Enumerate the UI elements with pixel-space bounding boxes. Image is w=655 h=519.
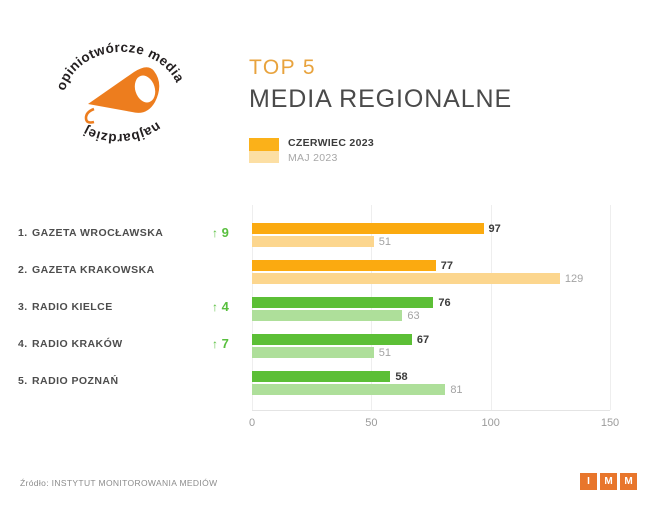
bar-previous: 51 xyxy=(252,347,374,358)
row-label: 5.RADIO POZNAŃ xyxy=(18,375,194,387)
bar-previous: 81 xyxy=(252,384,445,395)
bar-value-label: 77 xyxy=(441,260,453,272)
bar-group: 9751 xyxy=(252,223,484,247)
chart-row: 4.RADIO KRAKÓW↑ 76751 xyxy=(0,330,655,364)
bar-value-label: 97 xyxy=(489,223,501,235)
legend-swatch-current xyxy=(249,138,279,151)
bar-group: 6751 xyxy=(252,334,412,358)
page-title: TOP 5 MEDIA REGIONALNE xyxy=(249,55,512,115)
bar-value-label: 129 xyxy=(565,273,583,285)
row-name: RADIO KRAKÓW xyxy=(32,338,123,350)
imm-logo: IMM xyxy=(580,473,637,490)
rank-change-indicator: ↑ 7 xyxy=(212,336,229,351)
chart-legend: CZERWIEC 2023 MAJ 2023 xyxy=(249,137,374,165)
bar-previous: 129 xyxy=(252,273,560,284)
chart-row: 3.RADIO KIELCE↑ 47663 xyxy=(0,293,655,327)
x-axis-line xyxy=(252,410,610,411)
bar-value-label: 51 xyxy=(379,236,391,248)
bar-current: 58 xyxy=(252,371,390,382)
imm-logo-letter: M xyxy=(600,473,617,490)
row-rank: 1. xyxy=(18,227,32,239)
megaphone-icon xyxy=(86,67,160,122)
bar-previous: 51 xyxy=(252,236,374,247)
bar-group: 5881 xyxy=(252,371,445,395)
imm-logo-letter: M xyxy=(620,473,637,490)
row-name: RADIO POZNAŃ xyxy=(32,375,118,387)
row-name: GAZETA WROCŁAWSKA xyxy=(32,227,163,239)
row-rank: 3. xyxy=(18,301,32,313)
legend-label-current: CZERWIEC 2023 xyxy=(288,137,374,150)
bar-chart: 1.GAZETA WROCŁAWSKA↑ 997512.GAZETA KRAKO… xyxy=(0,205,655,440)
row-rank: 5. xyxy=(18,375,32,387)
bar-value-label: 63 xyxy=(407,310,419,322)
bar-current: 76 xyxy=(252,297,433,308)
bar-value-label: 76 xyxy=(438,297,450,309)
x-tick-label: 100 xyxy=(481,417,499,429)
imm-logo-letter: I xyxy=(580,473,597,490)
bar-current: 67 xyxy=(252,334,412,345)
chart-row: 1.GAZETA WROCŁAWSKA↑ 99751 xyxy=(0,219,655,253)
row-label: 3.RADIO KIELCE xyxy=(18,301,194,313)
legend-swatch-previous xyxy=(249,151,279,164)
row-name: GAZETA KRAKOWSKA xyxy=(32,264,155,276)
bar-value-label: 81 xyxy=(450,384,462,396)
row-label: 4.RADIO KRAKÓW xyxy=(18,338,194,350)
row-rank: 4. xyxy=(18,338,32,350)
row-rank: 2. xyxy=(18,264,32,276)
title-eyebrow: TOP 5 xyxy=(249,55,512,81)
bar-value-label: 58 xyxy=(395,371,407,383)
legend-labels: CZERWIEC 2023 MAJ 2023 xyxy=(288,137,374,165)
rank-change-indicator: ↑ 9 xyxy=(212,225,229,240)
legend-swatch xyxy=(249,138,279,163)
x-tick-label: 50 xyxy=(365,417,377,429)
bar-value-label: 67 xyxy=(417,334,429,346)
chart-row: 2.GAZETA KRAKOWSKA77129 xyxy=(0,256,655,290)
row-label: 2.GAZETA KRAKOWSKA xyxy=(18,264,194,276)
bar-previous: 63 xyxy=(252,310,402,321)
x-tick-label: 150 xyxy=(601,417,619,429)
rank-change-indicator: ↑ 4 xyxy=(212,299,229,314)
rank-change-value: 4 xyxy=(218,299,229,314)
row-label: 1.GAZETA WROCŁAWSKA xyxy=(18,227,194,239)
title-main: MEDIA REGIONALNE xyxy=(249,83,512,115)
bar-value-label: 51 xyxy=(379,347,391,359)
bar-current: 77 xyxy=(252,260,436,271)
source-note: Źródło: INSTYTUT MONITOROWANIA MEDIÓW xyxy=(20,478,217,488)
legend-label-previous: MAJ 2023 xyxy=(288,152,374,165)
bar-group: 77129 xyxy=(252,260,560,284)
x-tick-label: 0 xyxy=(249,417,255,429)
bar-current: 97 xyxy=(252,223,484,234)
chart-row: 5.RADIO POZNAŃ5881 xyxy=(0,367,655,401)
rank-change-value: 7 xyxy=(218,336,229,351)
logo-svg: opiniotwórcze media najbardziej xyxy=(42,32,202,147)
rank-change-value: 9 xyxy=(218,225,229,240)
brand-logo: opiniotwórcze media najbardziej xyxy=(42,32,202,147)
row-name: RADIO KIELCE xyxy=(32,301,113,313)
bar-group: 7663 xyxy=(252,297,433,321)
